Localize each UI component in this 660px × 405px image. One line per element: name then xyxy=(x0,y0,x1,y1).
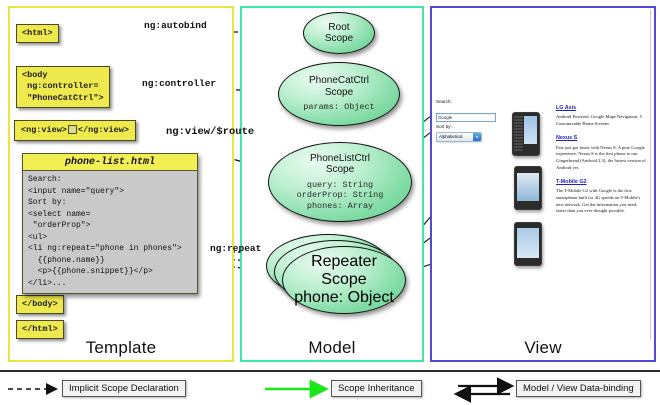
partial-source-code: Search: <input name="query"> Sort by: <s… xyxy=(22,170,198,294)
phone-thumbnail-nexus-s xyxy=(514,166,542,210)
chevron-down-icon: ▾ xyxy=(473,133,481,141)
ngview-placeholder-icon xyxy=(68,125,77,134)
list-item: LG Axis Android Powered, Google Maps Nav… xyxy=(556,104,648,127)
html-close-tag-box: </html> xyxy=(16,320,64,339)
scope-phonecatctrl: PhoneCatCtrl Scope params: Object xyxy=(278,62,400,126)
search-input[interactable] xyxy=(436,113,496,122)
sort-select-value: Alphabetical xyxy=(439,134,462,139)
scope-root: Root Scope xyxy=(303,12,375,54)
edge-label-route: ng:view/$route xyxy=(166,126,254,138)
phone-name-link[interactable]: LG Axis xyxy=(556,104,648,112)
phone-name-link[interactable]: Nexus S xyxy=(556,134,648,142)
scope-phonecatctrl-name: PhoneCatCtrl Scope xyxy=(309,75,369,98)
phone-screen xyxy=(517,228,539,258)
edge-label-autobind: ng:autobind xyxy=(144,20,207,31)
scope-root-name: Root Scope xyxy=(325,22,353,45)
partial-template-callout: phone-list.html Search: <input name="que… xyxy=(22,153,198,294)
phone-snippet: The T-Mobile G2 with Google is the first… xyxy=(556,188,648,215)
edge-label-repeat: ng:repeat xyxy=(210,243,261,254)
html-tag-box: <html> xyxy=(16,24,59,43)
sort-select[interactable]: Alphabetical▾ xyxy=(436,132,482,142)
legend-divider xyxy=(0,370,660,372)
view-column-label: View xyxy=(432,338,654,358)
legend-item-implicit-scope-declaration: Implicit Scope Declaration xyxy=(62,380,186,397)
phone-snippet: Fast just got faster with Nexus S. A pur… xyxy=(556,145,648,172)
edge-label-controller: ng:controller xyxy=(142,78,216,89)
view-search-form: Search: Sort by: Alphabetical▾ xyxy=(436,99,496,142)
scope-repeater-props: phone: Object xyxy=(294,289,394,307)
ngview-open-tag: <ng:view> xyxy=(21,125,67,135)
scope-repeater-name: Repeater Scope xyxy=(311,253,377,289)
view-scroll-divider xyxy=(650,10,651,340)
scope-phonelistctrl: PhoneListCtrl Scope query: String orderP… xyxy=(268,142,412,222)
scope-phonecatctrl-props: params: Object xyxy=(303,102,374,113)
diagram-canvas: Template <html> <body ng:controller= "Ph… xyxy=(0,0,660,405)
scope-repeater: Repeater Scope phone: Object xyxy=(282,246,406,314)
list-item: Nexus S Fast just got faster with Nexus … xyxy=(556,134,648,171)
legend-item-scope-inheritance: Scope Inheritance xyxy=(331,380,422,397)
keyboard-detail xyxy=(514,116,523,152)
phone-screen xyxy=(524,116,537,144)
phone-snippet: Android Powered, Google Maps Navigation,… xyxy=(556,114,648,127)
legend: Implicit Scope Declaration Scope Inherit… xyxy=(0,376,660,405)
partial-filename: phone-list.html xyxy=(22,153,198,170)
body-tag-box: <body ng:controller= "PhoneCatCtrl"> xyxy=(16,66,110,108)
body-close-tag-box: </body> xyxy=(16,295,64,314)
sort-label: Sort by: xyxy=(436,124,496,131)
scope-phonelistctrl-props: query: String orderProp: String phones: … xyxy=(297,180,384,212)
ngview-close-tag: </ng:view> xyxy=(78,125,129,135)
scope-phonelistctrl-name: PhoneListCtrl Scope xyxy=(310,153,370,176)
list-item: T-Mobile G2 The T-Mobile G2 with Google … xyxy=(556,178,648,215)
legend-item-data-binding: Model / View Data-binding xyxy=(516,380,641,397)
phone-name-link[interactable]: T-Mobile G2 xyxy=(556,178,648,186)
phone-list: LG Axis Android Powered, Google Maps Nav… xyxy=(556,104,648,222)
phone-screen xyxy=(517,173,539,201)
phone-thumbnail-tmobile-g2 xyxy=(514,222,542,266)
model-column-label: Model xyxy=(242,338,422,358)
search-label: Search: xyxy=(436,99,496,106)
ngview-tag-box: <ng:view></ng:view> xyxy=(14,120,136,141)
template-column-label: Template xyxy=(10,338,232,358)
phone-thumbnail-lg-axis xyxy=(512,112,540,156)
